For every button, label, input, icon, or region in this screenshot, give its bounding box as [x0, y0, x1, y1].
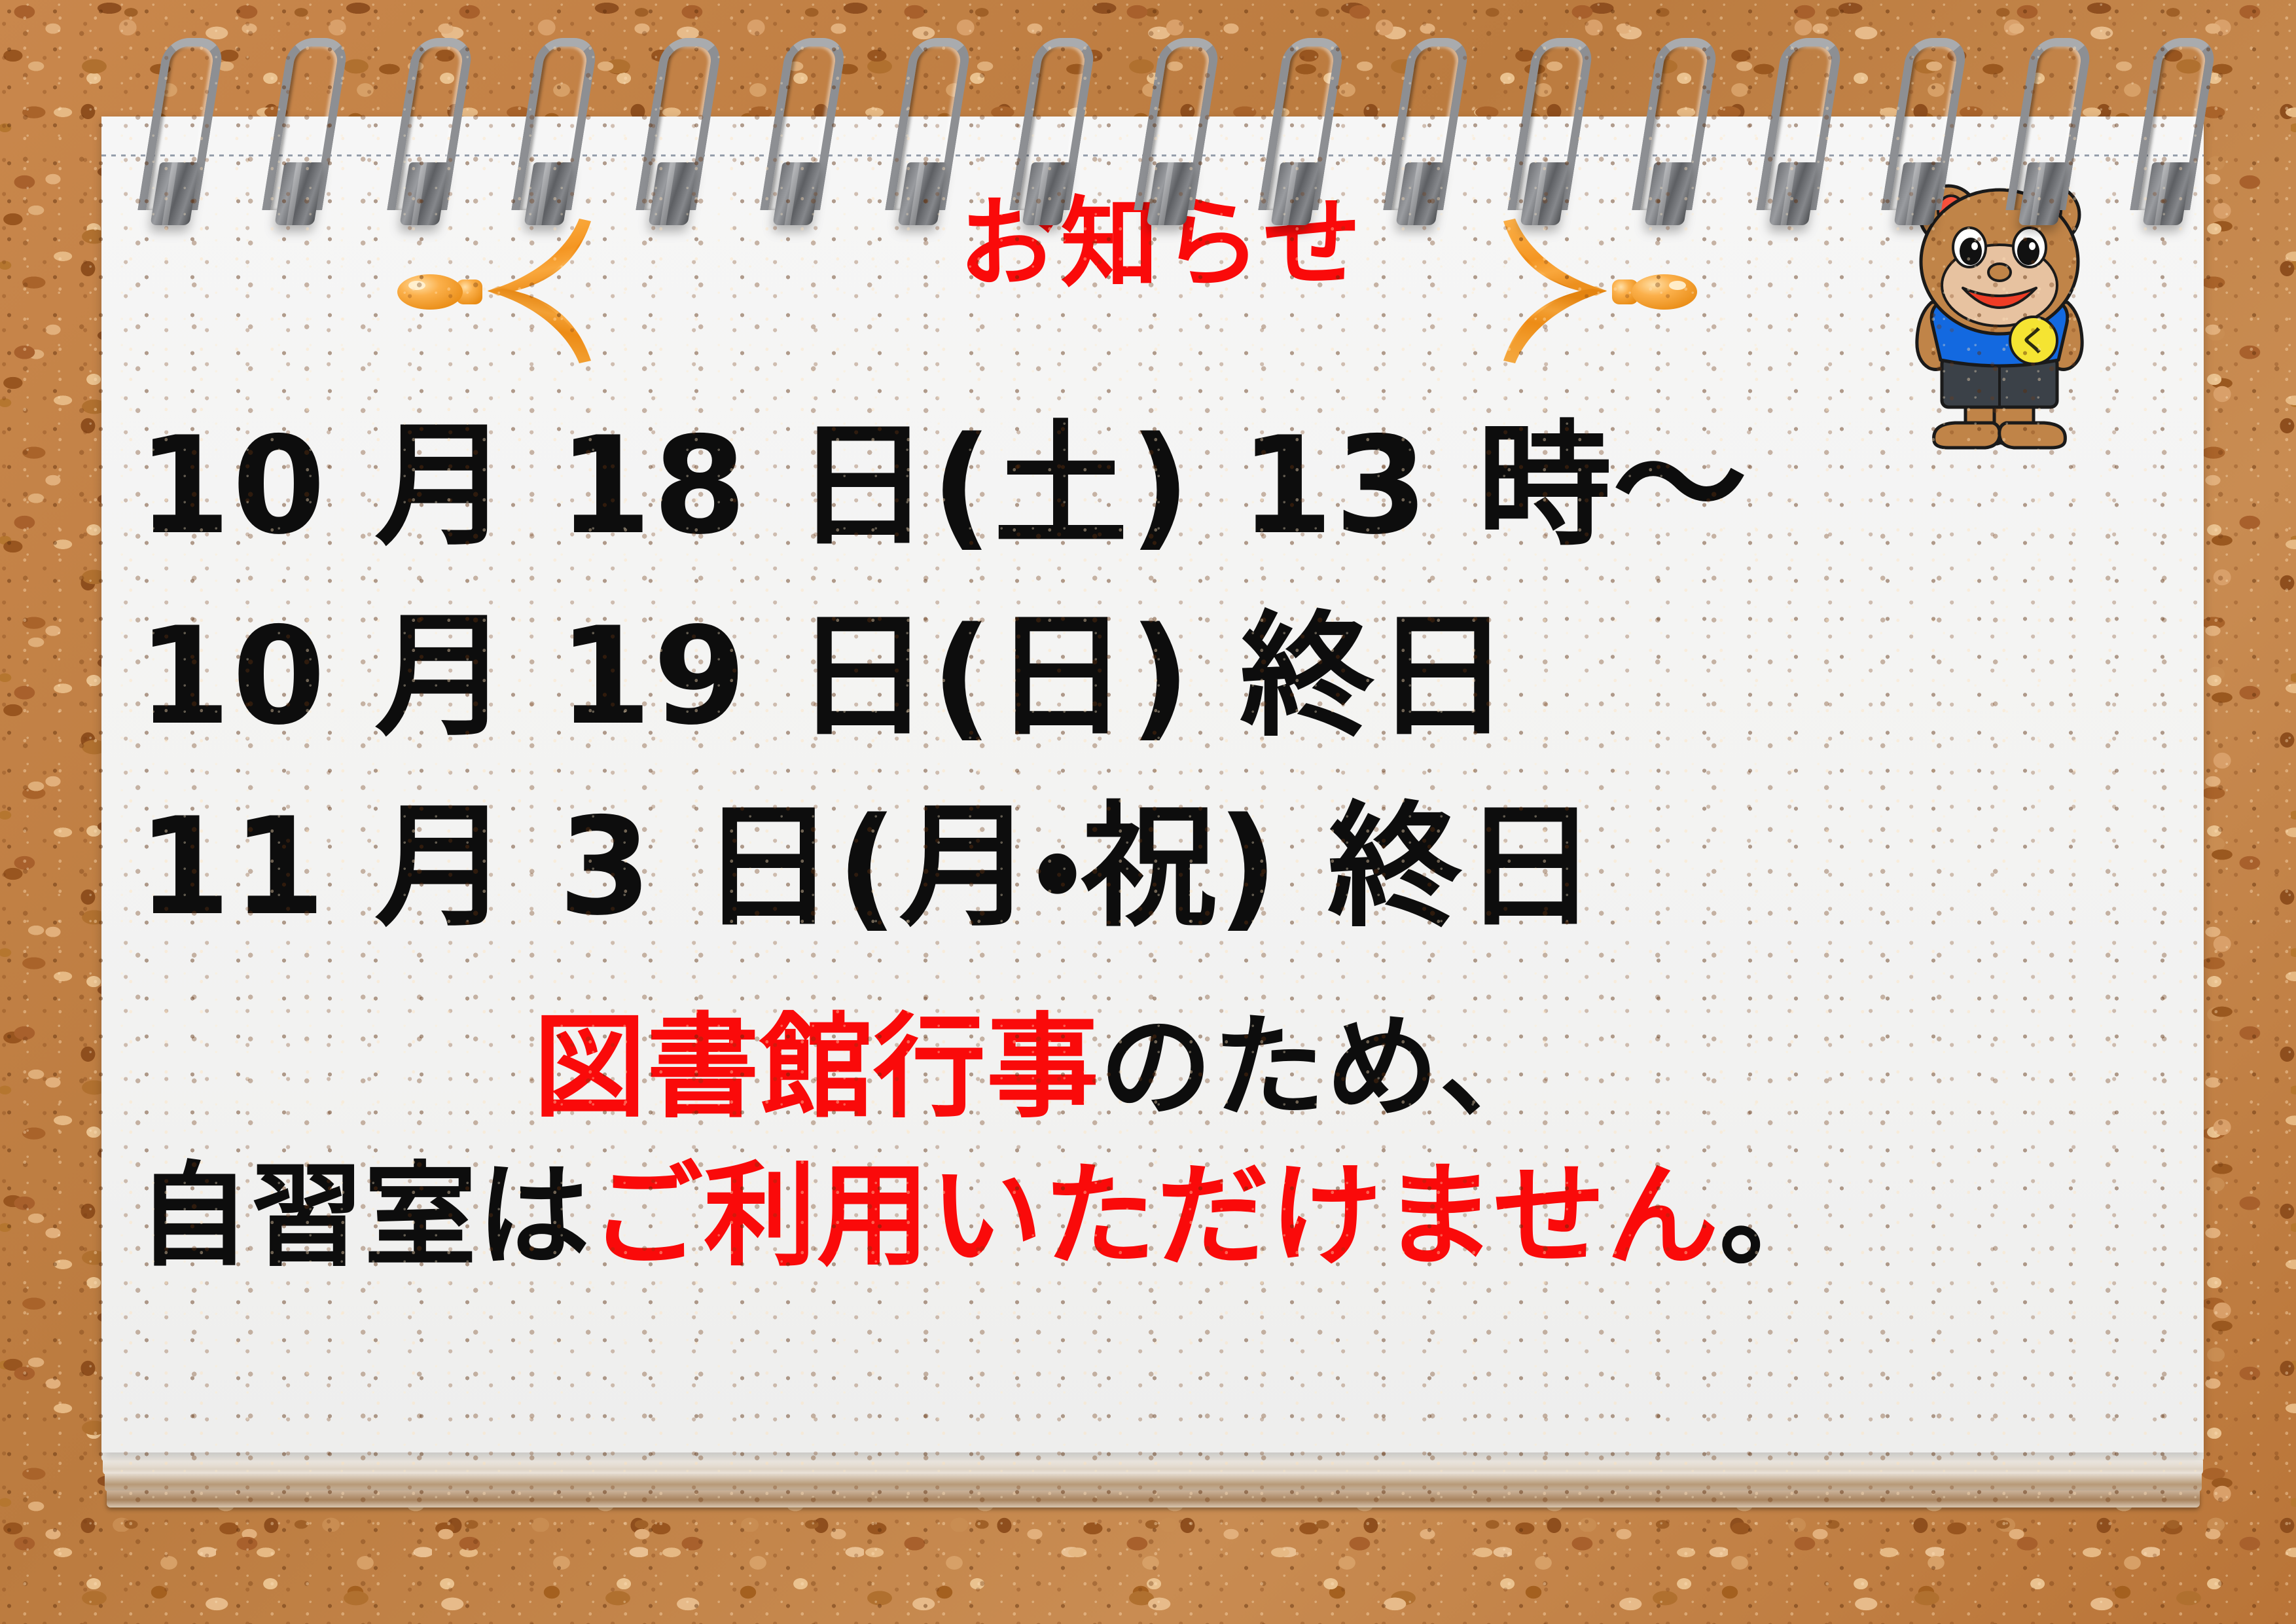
notice-reason-highlight: 図書館行事	[533, 1001, 1100, 1133]
notice-line-1: 図書館行事のため、	[101, 993, 2204, 1142]
notice-line-2: 自習室はご利用いただけません。	[101, 1142, 2204, 1290]
spiral-notepad: お知らせ	[101, 117, 2204, 1507]
poster-body: 10 月 18 日(土) 13 時～ 10 月 19 日(日) 終日 11 月 …	[101, 391, 2204, 1290]
mascot-badge-text: く	[2019, 325, 2048, 358]
schedule-line: 11 月 3 日(月・祝) 終日	[101, 772, 2204, 963]
notice-reason-suffix: のため、	[1100, 1001, 1552, 1133]
schedule-line: 10 月 19 日(日) 終日	[101, 582, 2204, 772]
schedule-line: 10 月 18 日(土) 13 時～	[101, 391, 2204, 582]
notice-period: 。	[1719, 1150, 1833, 1282]
notepad-page: お知らせ	[101, 117, 2204, 1453]
cork-board-background: お知らせ	[0, 0, 2296, 1624]
paper-stack-edge	[107, 1490, 2200, 1507]
paper-stack-edge	[103, 1460, 2203, 1475]
notice-unavailable-highlight: ご利用いただけません	[590, 1150, 1719, 1282]
notice-subject: 自習室は	[137, 1150, 590, 1282]
page-title: お知らせ	[815, 195, 1509, 293]
paper-stack-edge	[105, 1473, 2202, 1492]
orange-arrow-ornament-left	[383, 217, 605, 365]
perforation-line	[101, 154, 2204, 156]
poster-header: お知らせ	[101, 177, 2204, 373]
orange-arrow-ornament-right	[1489, 217, 1712, 365]
